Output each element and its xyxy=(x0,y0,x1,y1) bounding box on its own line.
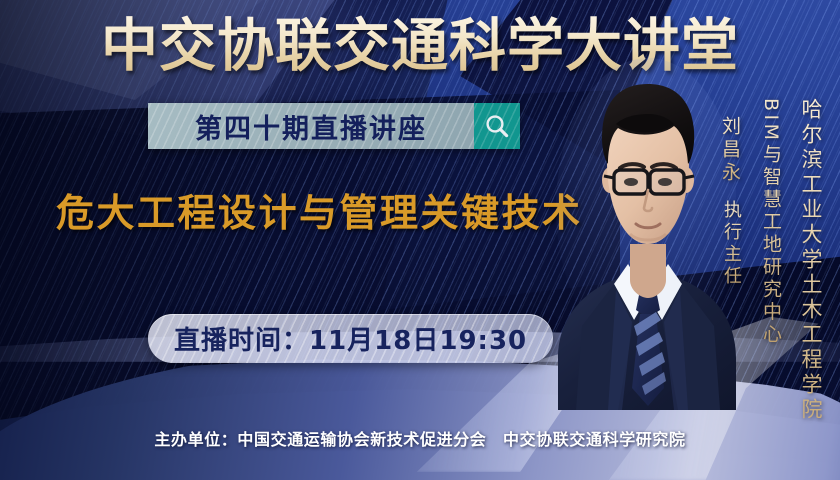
subtitle-bar: 第四十期直播讲座 xyxy=(148,103,520,149)
live-lecture-poster: 中交协联交通科学大讲堂 中交协联交通科学大讲堂 第四十期直播讲座 危大工程设计与… xyxy=(0,0,840,480)
speaker-organization-sub-latin: BIM xyxy=(760,98,782,144)
speaker-organization-sub: BIM与智慧工地研究中心 xyxy=(758,98,788,346)
speaker-organization-main: 哈尔滨工业大学土木工程学院 xyxy=(796,98,826,423)
organizer-footer: 主办单位：中国交通运输协会新技术促进分会 中交协联交通科学研究院 xyxy=(0,426,840,450)
subtitle-label: 第四十期直播讲座 xyxy=(195,107,427,146)
speaker-name: 刘昌永 xyxy=(717,116,744,185)
live-time-badge: 直播时间：11月18日19:30 xyxy=(148,314,553,363)
subtitle-bar-fill: 第四十期直播讲座 xyxy=(148,103,474,149)
lecture-topic: 危大工程设计与管理关键技术 xyxy=(56,188,583,238)
search-button[interactable] xyxy=(474,103,520,149)
speaker-role: 执行主任 xyxy=(718,200,744,288)
speaker-portrait xyxy=(556,58,736,410)
speaker-organization-sub-rest: 与智慧工地研究中心 xyxy=(760,144,782,347)
search-icon xyxy=(484,113,510,139)
live-time-label: 直播时间：11月18日19:30 xyxy=(174,320,527,357)
